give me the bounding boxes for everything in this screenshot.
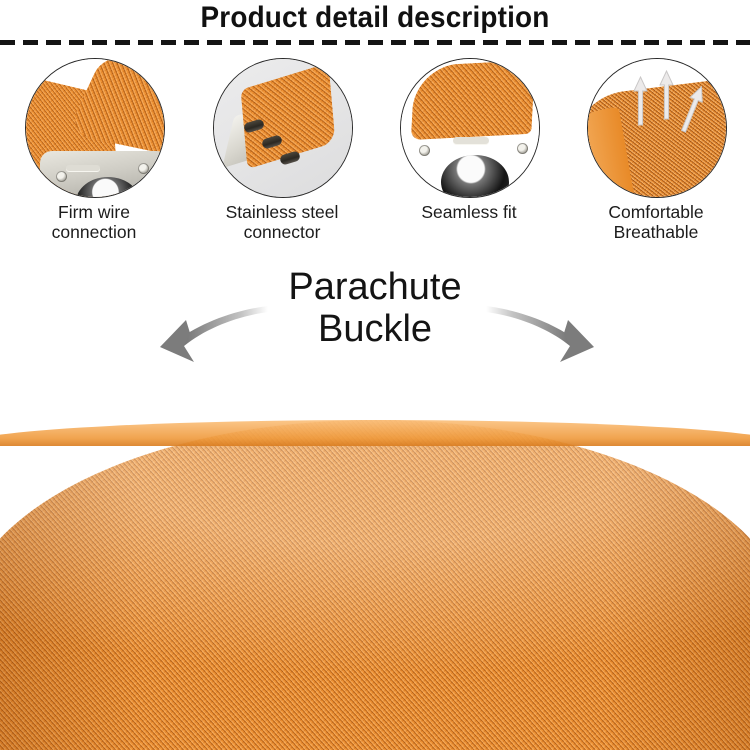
case-slot-icon	[453, 137, 489, 144]
header-dashed-divider	[0, 40, 750, 45]
caption-line-1: Stainless steel	[192, 202, 372, 222]
feature-item-firm-wire-connection: Firm wire connection	[0, 56, 188, 252]
screw-icon	[419, 145, 430, 156]
screw-icon	[517, 143, 528, 154]
feature-image-seamless-fit	[400, 58, 540, 198]
feature-caption-seamless-fit: Seamless fit	[379, 202, 559, 222]
curved-arrow-right-icon	[484, 300, 614, 372]
hero-heading-line-2: Buckle	[0, 308, 750, 350]
caption-line-2: connection	[4, 222, 184, 242]
feature-caption-comfortable-breathable: Comfortable Breathable	[566, 202, 746, 242]
feature-caption-stainless-steel-connector: Stainless steel connector	[192, 202, 372, 242]
hero-heading-line-1: Parachute	[0, 266, 750, 308]
screw-icon	[138, 163, 149, 174]
page-header: Product detail description	[0, 0, 750, 48]
caption-line-1: Firm wire	[4, 202, 184, 222]
feature-item-stainless-steel-connector: Stainless steel connector	[188, 56, 376, 252]
hero-product-image	[0, 380, 750, 750]
page-title: Product detail description	[26, 1, 724, 35]
feature-list: Firm wire connection Stainless steel con…	[0, 56, 750, 252]
case-slot-icon	[66, 165, 100, 171]
caption-line-2: connector	[192, 222, 372, 242]
feature-caption-firm-wire-connection: Firm wire connection	[4, 202, 184, 242]
hero-heading: Parachute Buckle	[0, 266, 750, 350]
caption-line-1: Seamless fit	[379, 202, 559, 222]
nylon-band	[0, 420, 750, 750]
caption-line-1: Comfortable	[566, 202, 746, 222]
product-detail-page: Product detail description Firm wire con…	[0, 0, 750, 750]
screw-icon	[56, 171, 67, 182]
feature-item-seamless-fit: Seamless fit	[375, 56, 563, 252]
airflow-arrow-icon	[632, 75, 649, 127]
curved-arrow-left-icon	[140, 300, 270, 372]
feature-image-stainless-steel-connector	[213, 58, 353, 198]
feature-item-comfortable-breathable: Comfortable Breathable	[562, 56, 750, 252]
feature-image-firm-wire-connection	[25, 58, 165, 198]
band-top-edge	[0, 420, 750, 446]
airflow-arrow-icon	[658, 69, 675, 121]
feature-image-comfortable-breathable	[587, 58, 727, 198]
band-shading	[0, 420, 750, 750]
caption-line-2: Breathable	[566, 222, 746, 242]
